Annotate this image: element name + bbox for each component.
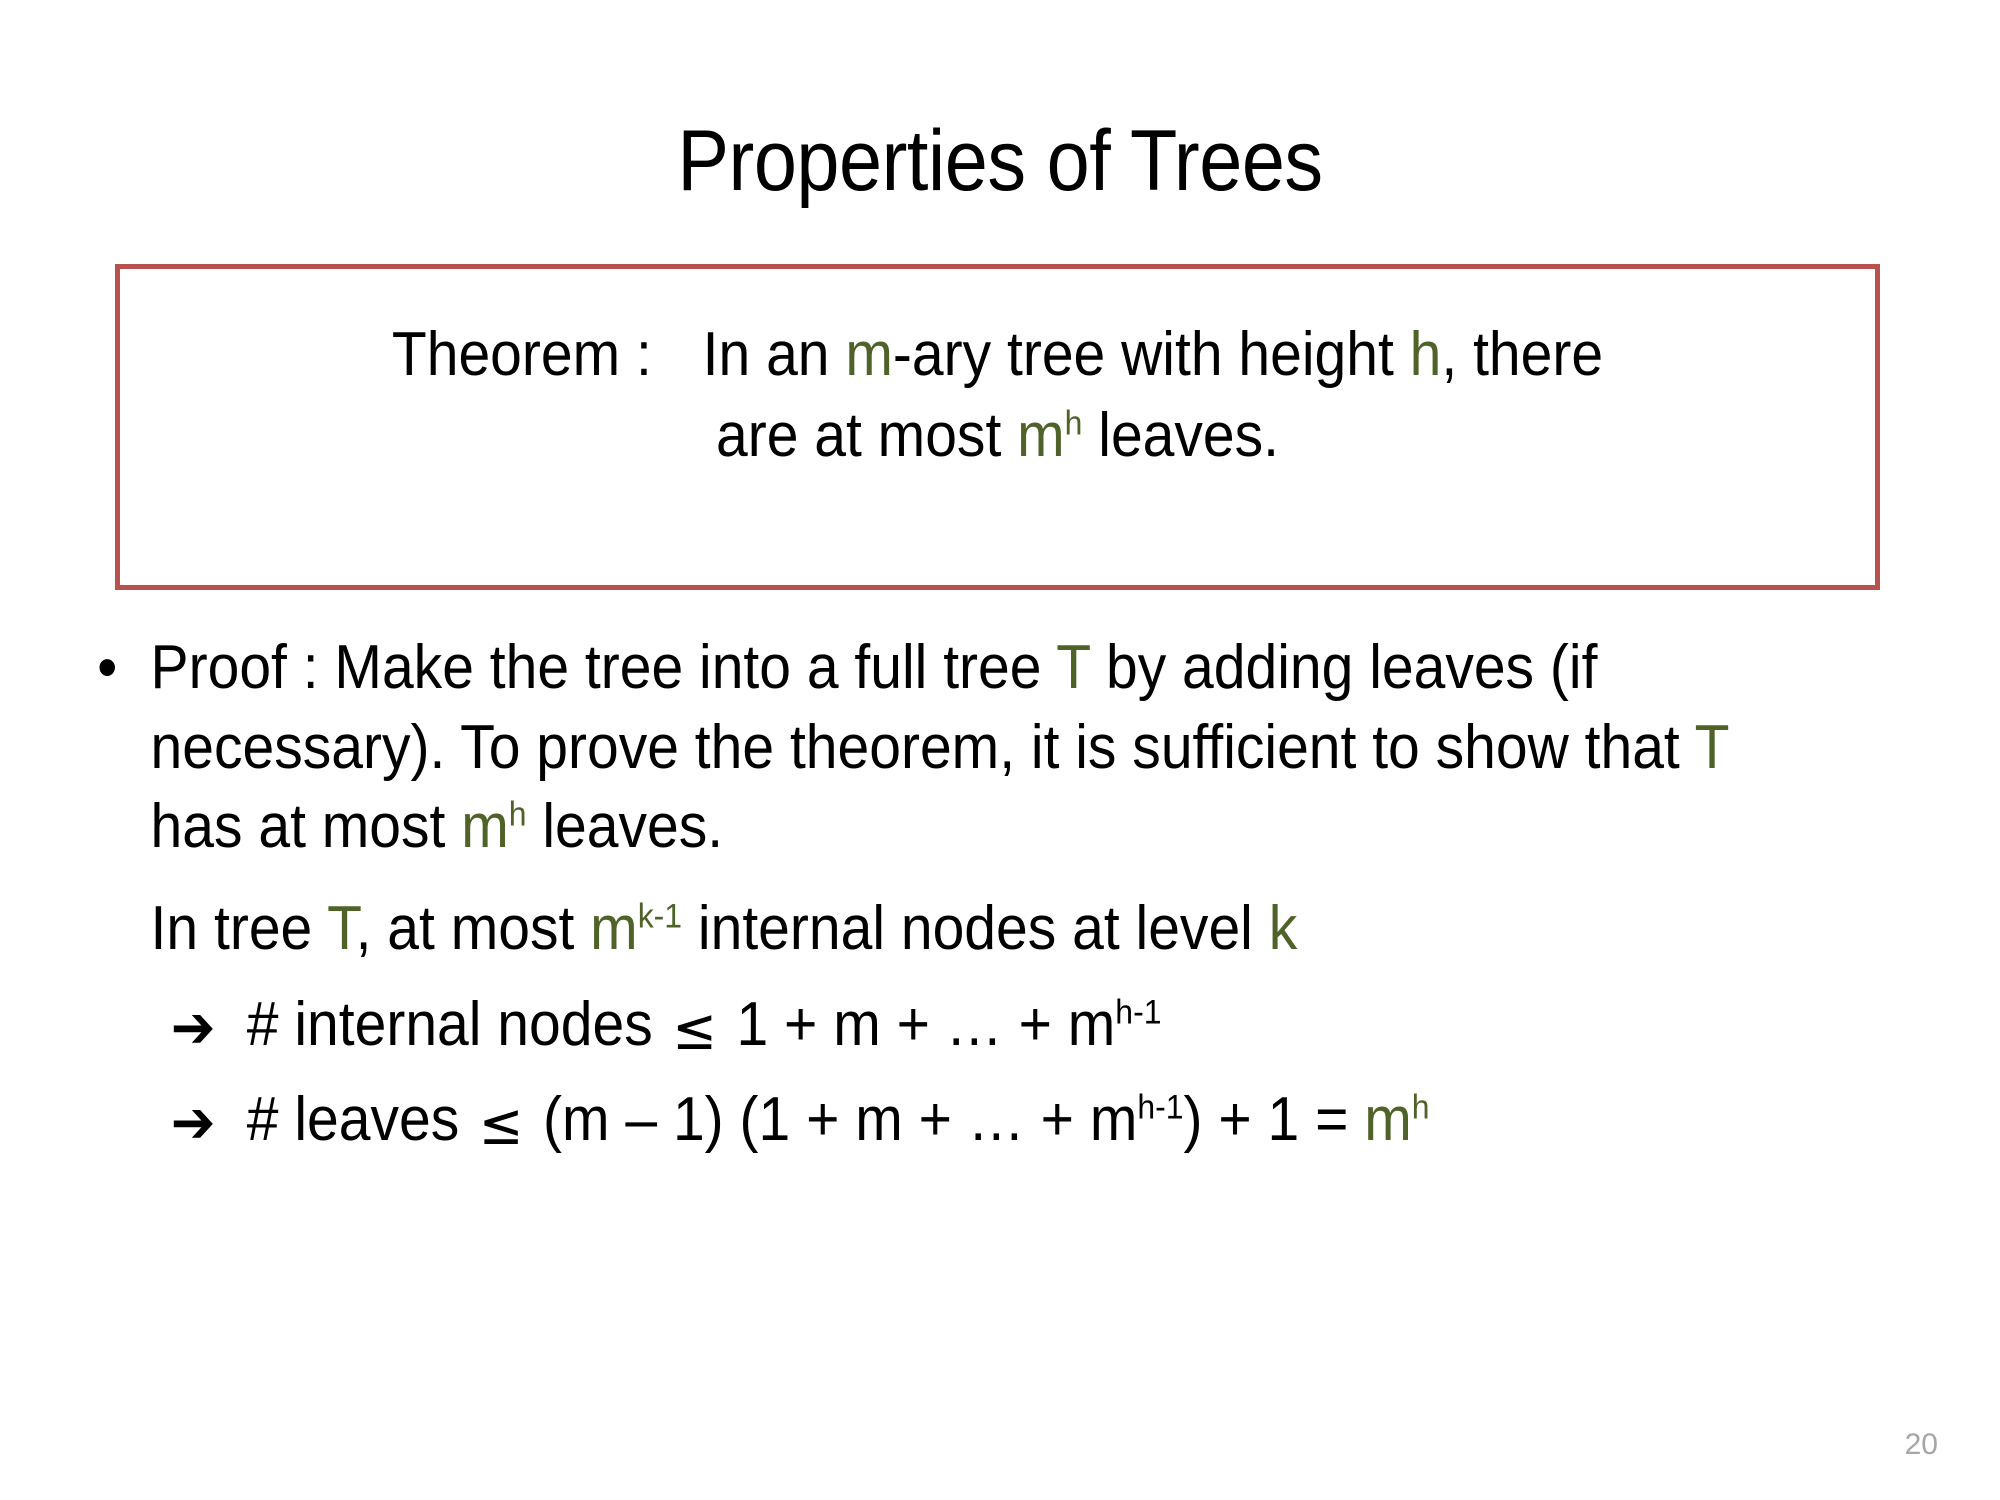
theorem-line2-b: leaves. [1082,401,1279,470]
proof-var-T: T [1056,633,1090,702]
bullet-icon: • [97,628,117,708]
proof-var-m: m [461,792,509,861]
proof-p4-sup2: h [1412,1089,1430,1127]
theorem-label: Theorem : [392,320,652,389]
theorem-callout-box: Theorem : In an m-ary tree with height h… [115,264,1880,590]
proof-sup-h: h [509,796,527,834]
proof-var-m3: m [1364,1085,1412,1154]
theorem-var-h: h [1410,320,1442,389]
proof-p3-a: # internal nodes [247,990,669,1059]
proof-p2-b: , at most [356,894,591,963]
proof-conclusion-internal-nodes: ➔# internal nodes ≤ 1 + m + … + mh-1 [88,985,1790,1065]
proof-body: •Proof : Make the tree into a full tree … [88,628,1938,1160]
arrow-right-icon: ➔ [171,998,216,1056]
page-number: 20 [1905,1428,1938,1462]
proof-p1-d: leaves. [527,792,724,861]
arrow-right-icon: ➔ [171,1093,216,1151]
theorem-line2-a: are at most [716,401,1017,470]
theorem-var-m2: m [1017,401,1065,470]
proof-p2-a: In tree [151,894,328,963]
proof-p4-sup1: h-1 [1137,1089,1183,1127]
theorem-statement: Theorem : In an m-ary tree with height h… [190,315,1805,476]
proof-level-line: In tree T, at most mk-1 internal nodes a… [88,889,1790,969]
slide-canvas: Properties of Trees Theorem : In an m-ar… [0,0,2000,1500]
proof-var-m2: m [590,894,638,963]
proof-paragraph: •Proof : Make the tree into a full tree … [88,628,1790,867]
theorem-line1-b: -ary tree with height [893,320,1410,389]
less-or-equal-icon: ≤ [475,1095,527,1153]
proof-var-T2: T [1695,713,1729,782]
proof-p2-c: internal nodes at level [682,894,1269,963]
proof-p3-sup: h-1 [1115,993,1161,1031]
proof-var-T3: T [327,894,356,963]
proof-sup-k: k-1 [638,897,682,935]
proof-var-k: k [1269,894,1298,963]
proof-p4-b: (m – 1) (1 + m + … + m [527,1085,1137,1154]
proof-p4-a: # leaves [247,1085,475,1154]
theorem-line1-a: In an [703,320,846,389]
proof-p3-b: 1 + m + … + m [721,990,1116,1059]
theorem-sup-h: h [1065,404,1083,442]
proof-p4-c: ) + 1 = [1184,1085,1365,1154]
page-title: Properties of Trees [100,118,1900,204]
theorem-line1-c: , there [1441,320,1603,389]
proof-p1-a: Proof : Make the tree into a full tree [151,633,1057,702]
proof-p1-c: has at most [151,792,462,861]
less-or-equal-icon: ≤ [669,1000,721,1058]
theorem-var-m: m [845,320,893,389]
proof-conclusion-leaves: ➔# leaves ≤ (m – 1) (1 + m + … + mh-1) +… [88,1080,1790,1160]
